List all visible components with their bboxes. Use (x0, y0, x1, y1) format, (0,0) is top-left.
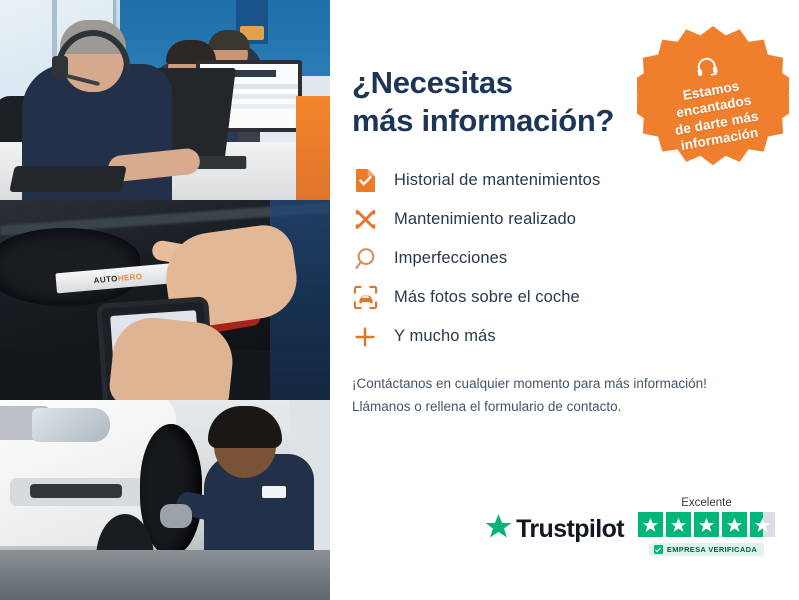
feature-item-mantenimiento: Mantenimiento realizado (352, 201, 773, 239)
car-photo-frame-icon (352, 285, 378, 311)
content-panel: ¿Necesitas más información? Estamos enca… (330, 0, 799, 600)
star-5-half (750, 512, 775, 537)
page-title: ¿Necesitas más información? (352, 64, 642, 140)
verified-check-icon (654, 545, 663, 554)
headset-icon (694, 54, 720, 82)
information-banner: AUTOHERO ¿Necesitas más información? (0, 0, 799, 600)
star-1 (638, 512, 663, 537)
tyre-service-photo (0, 400, 330, 600)
trustpilot-rating[interactable]: Trustpilot Excelente (484, 497, 775, 556)
page-title-line-1: ¿Necesitas (352, 65, 513, 100)
promo-starburst-badge: Estamos encantados de darte más informac… (637, 26, 789, 178)
feature-item-imperfecciones: Imperfecciones (352, 240, 773, 278)
trustpilot-logo[interactable]: Trustpilot (484, 513, 624, 556)
trustpilot-wordmark: Trustpilot (516, 515, 624, 544)
trustpilot-score-block: Excelente (638, 497, 775, 556)
photo-column: AUTOHERO (0, 0, 330, 600)
trustpilot-stars (638, 512, 775, 537)
star-4 (722, 512, 747, 537)
call-center-agents-photo (0, 0, 330, 200)
feature-label: Mantenimiento realizado (394, 210, 576, 229)
crossed-tools-icon (352, 207, 378, 233)
car-inspection-photo: AUTOHERO (0, 200, 330, 400)
magnifier-icon (352, 246, 378, 272)
checklist-document-icon (352, 168, 378, 194)
verified-business-badge: EMPRESA VERIFICADA (649, 543, 764, 556)
star-2 (666, 512, 691, 537)
feature-item-fotos: Más fotos sobre el coche (352, 279, 773, 317)
contact-line-2: Llámanos o rellena el formulario de cont… (352, 395, 773, 418)
feature-label: Imperfecciones (394, 249, 507, 268)
feature-label: Y mucho más (394, 327, 496, 346)
feature-label: Historial de mantenimientos (394, 171, 600, 190)
contact-line-1: ¡Contáctanos en cualquier momento para m… (352, 372, 773, 395)
feature-list: Historial de mantenimientos M (352, 162, 773, 356)
feature-item-mucho-mas: Y mucho más (352, 318, 773, 356)
verified-label: EMPRESA VERIFICADA (667, 545, 757, 554)
starburst-text: Estamos encantados de darte más informac… (668, 76, 763, 156)
feature-label: Más fotos sobre el coche (394, 288, 580, 307)
plus-icon (352, 324, 378, 350)
star-3 (694, 512, 719, 537)
trustpilot-star-icon (484, 513, 513, 546)
page-title-line-2: más información? (352, 103, 614, 138)
trustpilot-rating-label: Excelente (681, 497, 732, 509)
contact-text: ¡Contáctanos en cualquier momento para m… (352, 372, 773, 418)
